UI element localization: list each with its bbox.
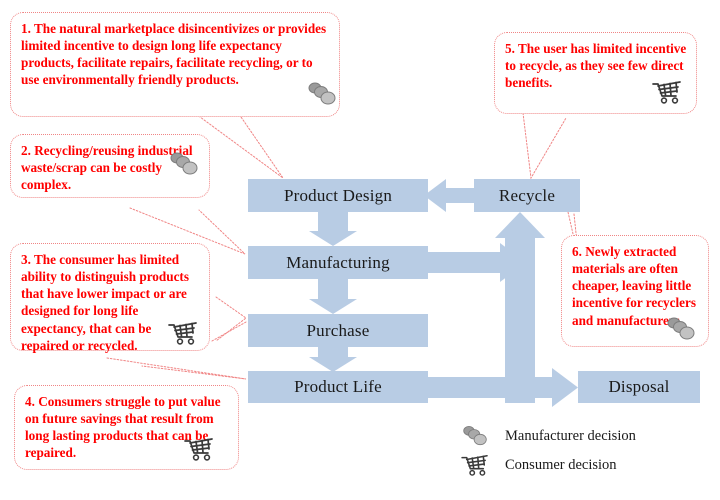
legend-label-manufacturer: Manufacturer decision [505, 428, 636, 445]
legend: Manufacturer decision Consumer decision [0, 0, 720, 500]
diagram-canvas: Product Design Recycle Manufacturing Pur… [0, 0, 720, 500]
legend-item-manufacturer: Manufacturer decision [455, 423, 636, 449]
legend-label-consumer: Consumer decision [505, 457, 617, 474]
coins-icon [455, 423, 495, 449]
cart-icon [455, 453, 495, 477]
legend-item-consumer: Consumer decision [455, 453, 617, 477]
